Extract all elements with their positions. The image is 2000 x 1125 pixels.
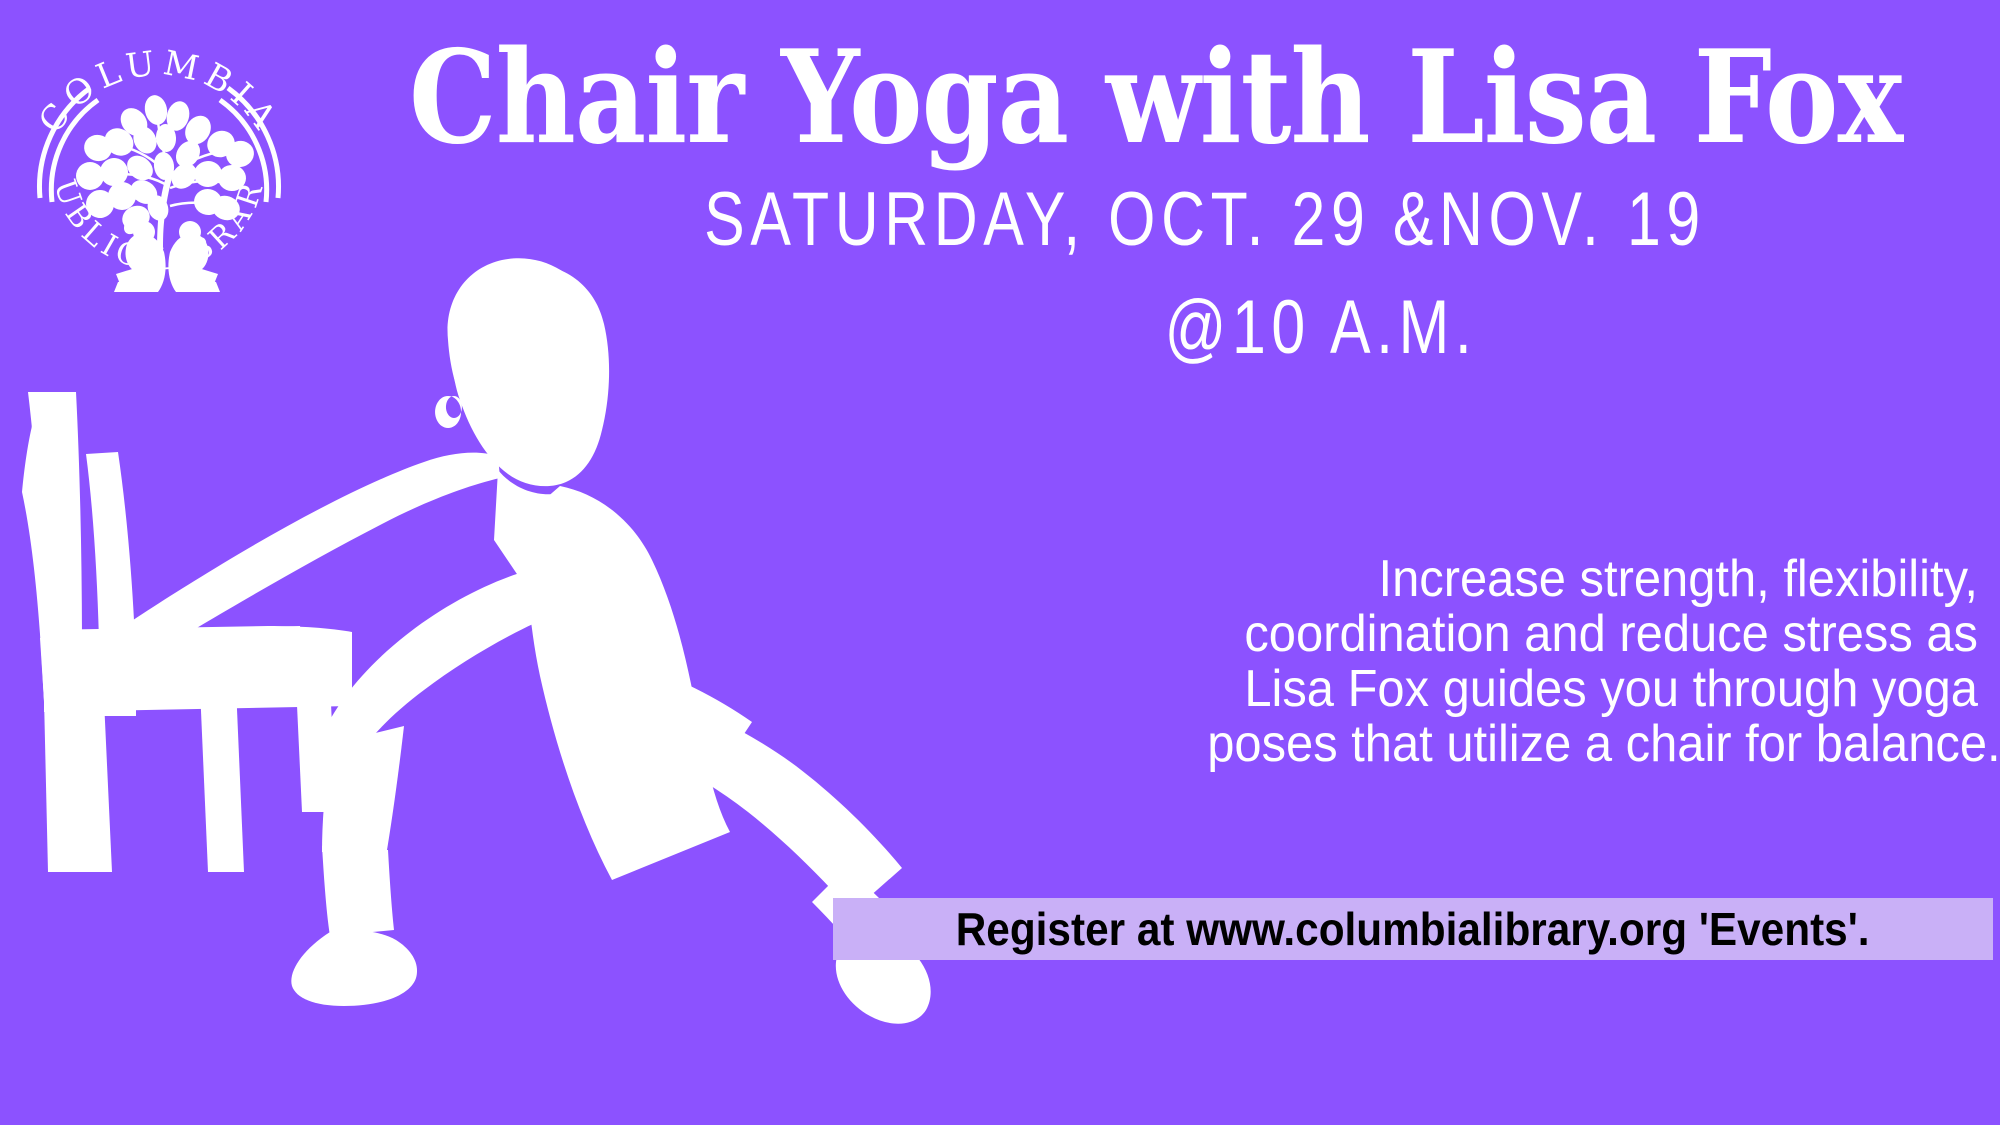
chair-silhouette — [22, 392, 352, 872]
description-line: poses that utilize a chair for balance. — [1207, 717, 1978, 772]
description-line: Lisa Fox guides you through yoga — [1207, 662, 1978, 717]
event-description: Increase strength, flexibility, coordina… — [1207, 552, 1978, 772]
yoga-figure-silhouette — [96, 258, 931, 1023]
page-title: Chair Yoga with Lisa Fox — [409, 34, 1871, 162]
event-timeline: @10 A.M. — [577, 290, 1833, 366]
flyer-canvas: COLUMBIA PUBLIC LIBRARY — [0, 0, 2000, 1125]
description-line: coordination and reduce stress as — [1207, 607, 1978, 662]
description-line: Increase strength, flexibility, — [1207, 552, 1978, 607]
event-dateline: SATURDAY, OCT. 29 &NOV. 19 — [577, 182, 1833, 258]
library-logo: COLUMBIA PUBLIC LIBRARY — [18, 26, 300, 308]
register-banner-text: Register at www.columbialibrary.org 'Eve… — [956, 906, 1870, 952]
register-banner[interactable]: Register at www.columbialibrary.org 'Eve… — [833, 898, 1993, 960]
